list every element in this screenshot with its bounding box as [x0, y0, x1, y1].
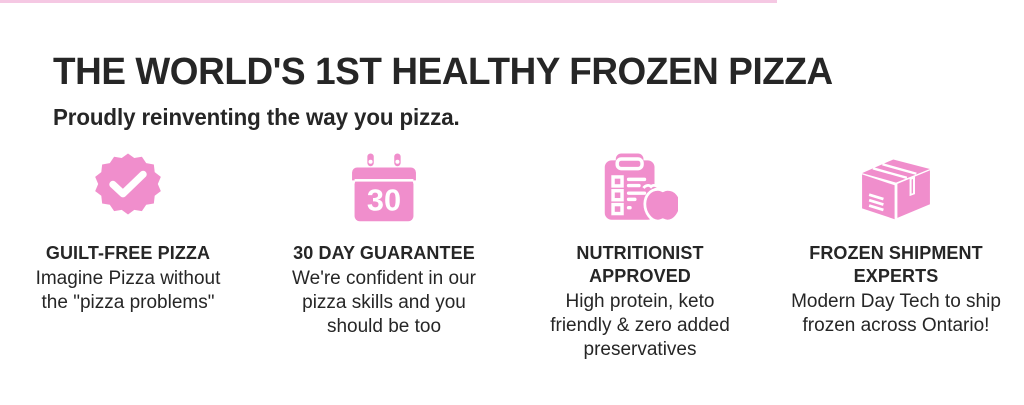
feature-item-30-day-guarantee: 30 30 DAY GUARANTEE We're confident in o… — [256, 152, 512, 339]
header-block: THE WORLD'S 1ST HEALTHY FROZEN PIZZA Pro… — [53, 52, 973, 130]
feature-item-nutritionist-approved: NUTRITIONIST APPROVED High protein, keto… — [512, 152, 768, 362]
clipboard-apple-icon — [602, 152, 678, 224]
check-badge-icon — [90, 152, 166, 224]
feature-body: High protein, keto friendly & zero added… — [533, 290, 748, 362]
calendar-30-icon: 30 — [346, 152, 422, 224]
promo-banner: THE WORLD'S 1ST HEALTHY FROZEN PIZZA Pro… — [0, 0, 1024, 405]
feature-title: 30 DAY GUARANTEE — [293, 242, 475, 265]
page-subtitle: Proudly reinventing the way you pizza. — [53, 104, 945, 130]
feature-body: Imagine Pizza without the "pizza problem… — [21, 267, 236, 315]
feature-body: We're confident in our pizza skills and … — [277, 267, 492, 339]
feature-title: FROZEN SHIPMENT EXPERTS — [801, 242, 991, 288]
feature-item-frozen-shipment-experts: FROZEN SHIPMENT EXPERTS Modern Day Tech … — [768, 152, 1024, 338]
top-divider-rule — [0, 0, 777, 3]
calendar-day-number: 30 — [367, 182, 401, 217]
feature-item-guilt-free-pizza: GUILT-FREE PIZZA Imagine Pizza without t… — [0, 152, 256, 315]
feature-title: NUTRITIONIST APPROVED — [545, 242, 735, 288]
feature-body: Modern Day Tech to ship frozen across On… — [789, 290, 1004, 338]
feature-list: GUILT-FREE PIZZA Imagine Pizza without t… — [0, 152, 1024, 362]
shipping-box-icon — [858, 152, 934, 224]
page-title: THE WORLD'S 1ST HEALTHY FROZEN PIZZA — [53, 52, 945, 92]
feature-title: GUILT-FREE PIZZA — [46, 242, 210, 265]
